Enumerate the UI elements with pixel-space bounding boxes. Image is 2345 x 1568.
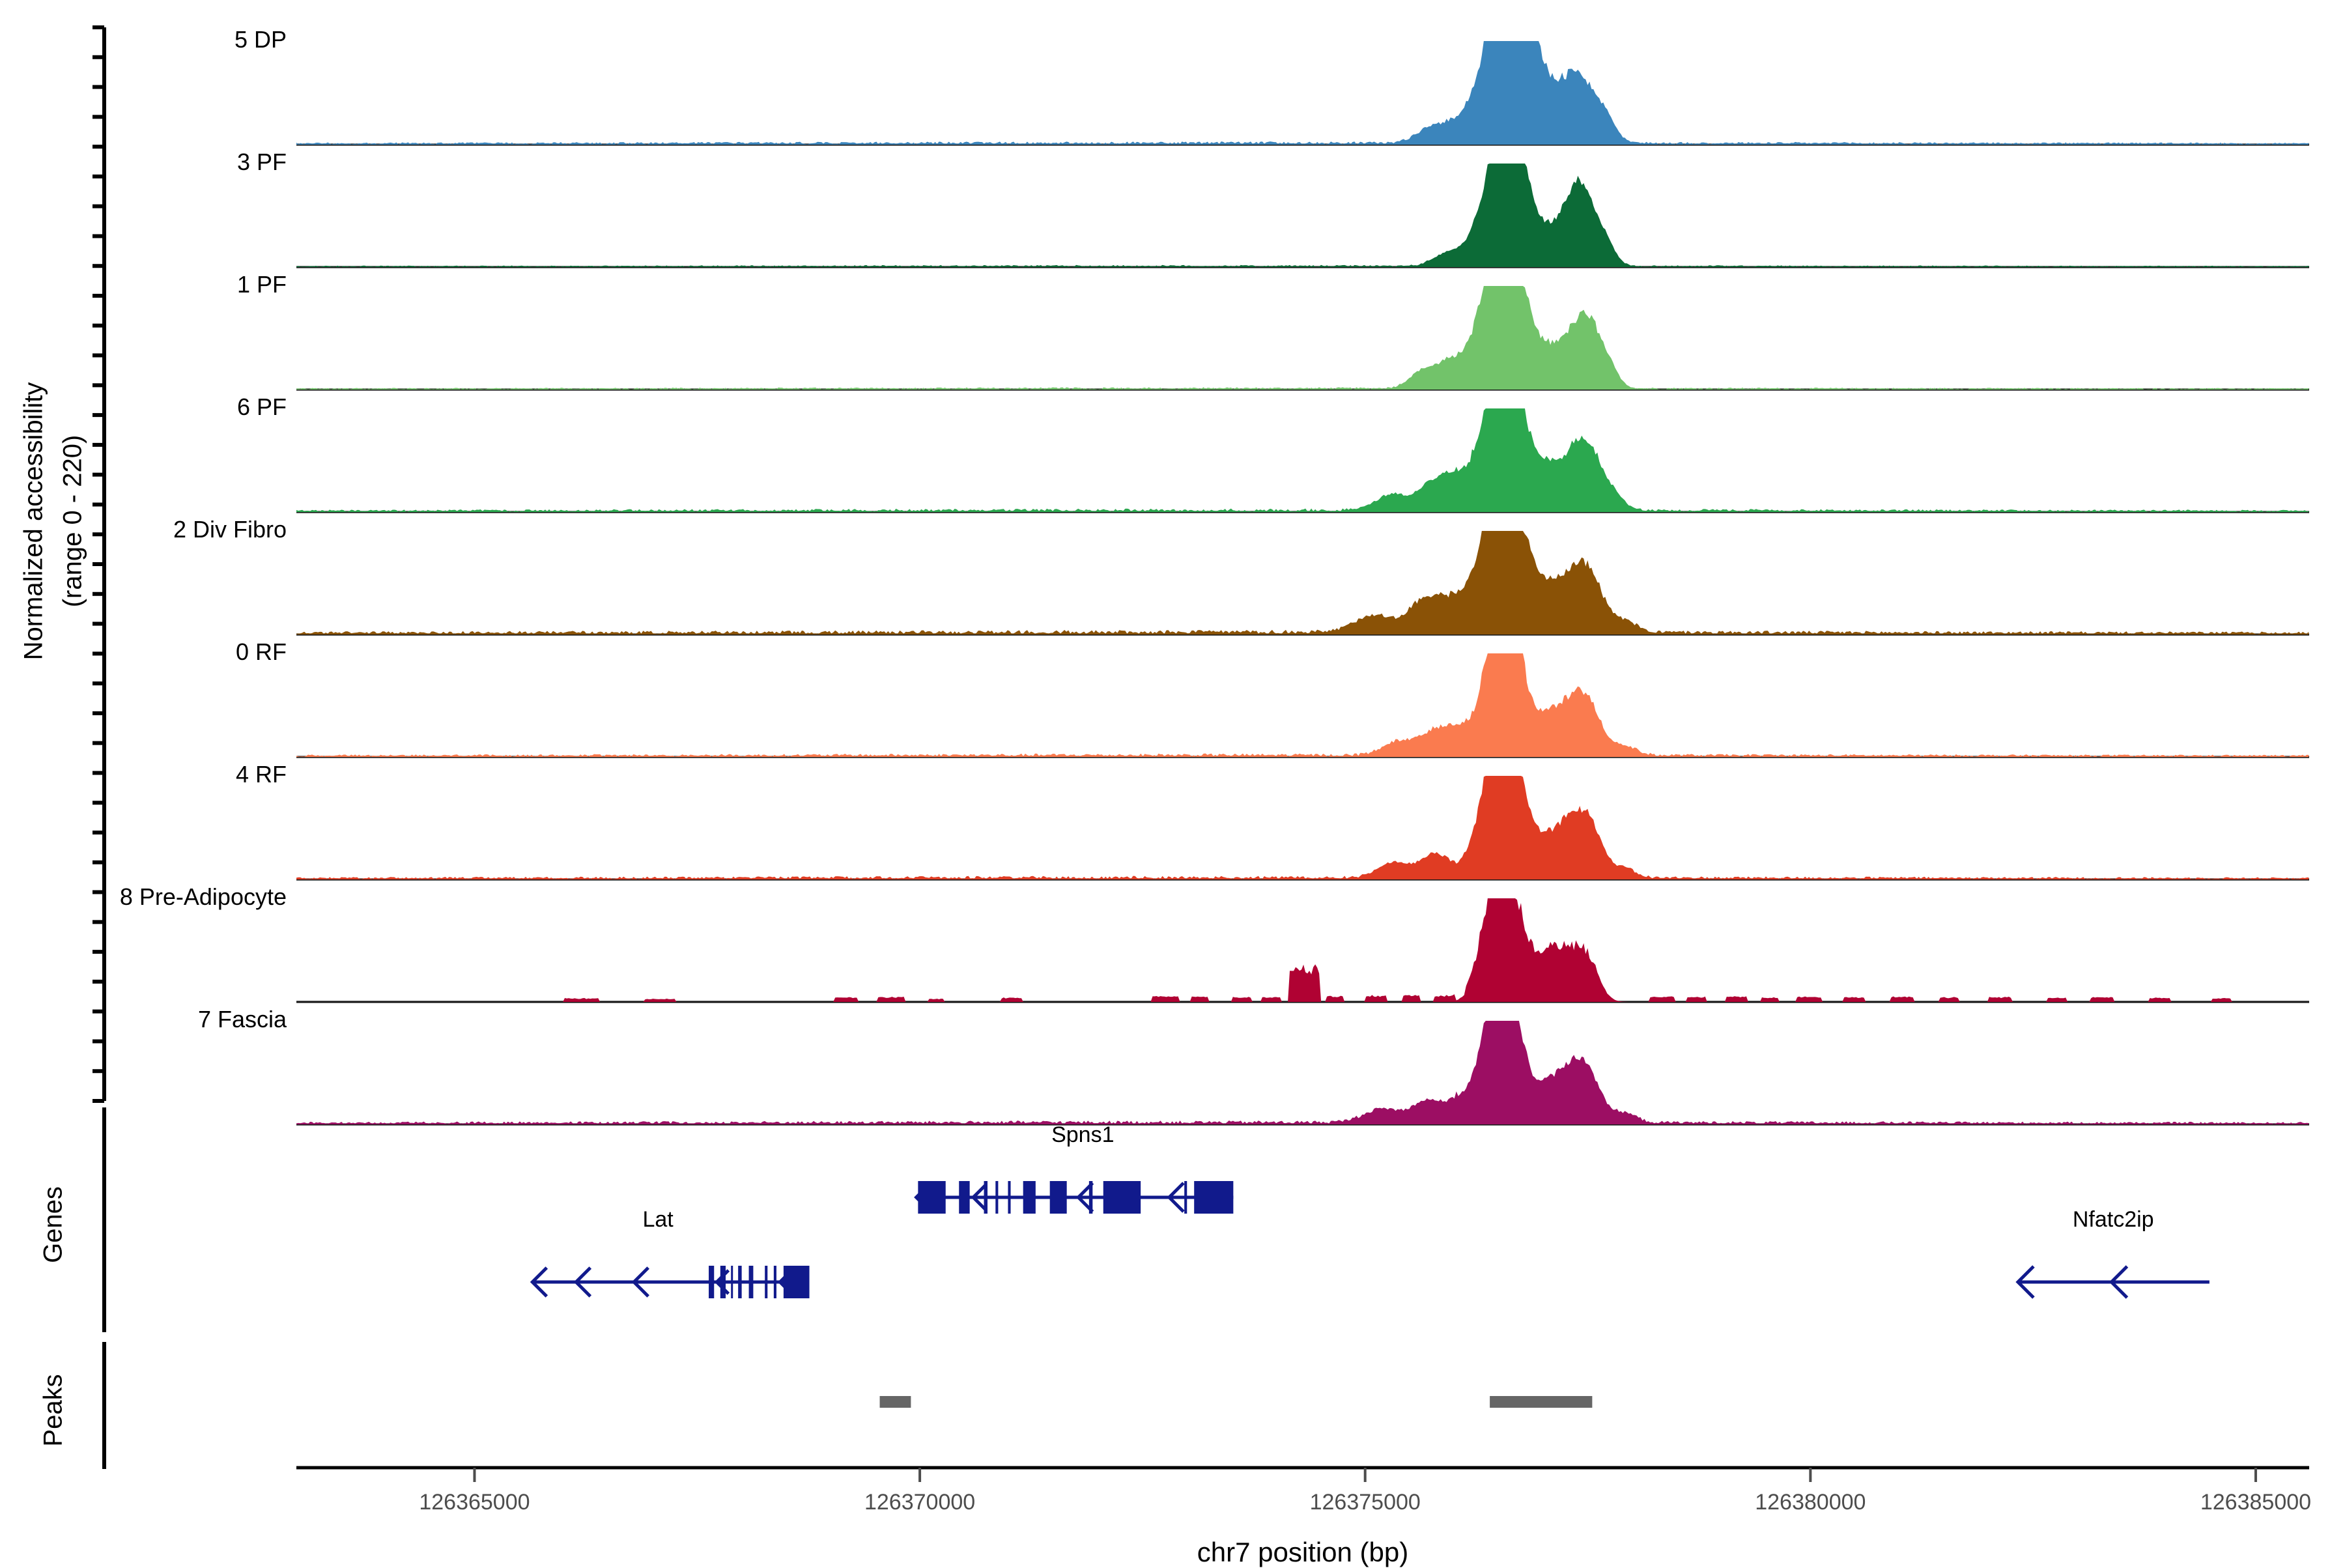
gene-exon bbox=[1103, 1181, 1141, 1214]
track-label-3: 6 PF bbox=[237, 393, 287, 421]
coverage-area bbox=[296, 41, 2309, 145]
coverage-area bbox=[296, 1021, 2309, 1124]
coverage-track bbox=[296, 286, 2309, 390]
coverage-track bbox=[296, 531, 2309, 634]
coverage-area bbox=[296, 164, 2309, 267]
track-label-1: 3 PF bbox=[237, 149, 287, 176]
gene-exon bbox=[784, 1266, 810, 1298]
coverage-area bbox=[296, 408, 2309, 512]
gene-exon bbox=[749, 1266, 754, 1298]
track-label-0: 5 DP bbox=[234, 26, 287, 53]
x-tick-label-4: 126385000 bbox=[2200, 1490, 2311, 1515]
coverage-area bbox=[296, 531, 2309, 634]
coverage-track bbox=[296, 41, 2309, 145]
track-label-2: 1 PF bbox=[237, 271, 287, 298]
peaks-track bbox=[880, 1396, 1593, 1408]
coverage-track bbox=[296, 653, 2309, 757]
figure-root: Normalized accessibility (range 0 - 220)… bbox=[0, 0, 2345, 1563]
coverage-area bbox=[296, 776, 2309, 879]
coverage-track bbox=[296, 776, 2309, 879]
x-tick-label-1: 126370000 bbox=[864, 1490, 975, 1515]
track-label-8: 7 Fascia bbox=[198, 1006, 287, 1033]
coverage-track bbox=[296, 898, 2309, 1002]
coverage-area bbox=[296, 898, 2309, 1002]
coverage-area bbox=[296, 653, 2309, 757]
x-tick-label-3: 126380000 bbox=[1755, 1490, 1866, 1515]
gene-exon bbox=[959, 1181, 969, 1214]
x-tick-label-2: 126375000 bbox=[1310, 1490, 1421, 1515]
gene-exon bbox=[1023, 1181, 1036, 1214]
coverage-area bbox=[296, 286, 2309, 390]
peak-region bbox=[1490, 1396, 1592, 1408]
gene-exon bbox=[1194, 1181, 1233, 1214]
genome-browser-canvas bbox=[0, 0, 2345, 1563]
gene-exon bbox=[774, 1266, 776, 1298]
track-label-5: 0 RF bbox=[236, 638, 287, 666]
peak-region bbox=[880, 1396, 911, 1408]
gene-exon bbox=[995, 1181, 998, 1214]
gene-exon bbox=[1050, 1181, 1067, 1214]
gene-label-spns1: Spns1 bbox=[1051, 1122, 1114, 1148]
coverage-track bbox=[296, 1021, 2309, 1124]
gene-exon bbox=[1184, 1181, 1187, 1214]
gene-label-nfatc2ip: Nfatc2ip bbox=[2073, 1207, 2154, 1233]
gene-exon bbox=[720, 1266, 726, 1298]
gene-label-lat: Lat bbox=[642, 1207, 673, 1233]
track-label-4: 2 Div Fibro bbox=[173, 516, 287, 543]
gene-exon bbox=[918, 1181, 945, 1214]
x-tick-label-0: 126365000 bbox=[419, 1490, 530, 1515]
gene-exon bbox=[738, 1266, 741, 1298]
genes-track bbox=[532, 1181, 2210, 1298]
gene-exon bbox=[765, 1266, 767, 1298]
coverage-track bbox=[296, 408, 2309, 512]
track-label-7: 8 Pre-Adipocyte bbox=[120, 883, 287, 911]
coverage-track bbox=[296, 164, 2309, 267]
gene-exon bbox=[709, 1266, 714, 1298]
track-label-6: 4 RF bbox=[236, 761, 287, 788]
gene-exon bbox=[1008, 1181, 1010, 1214]
gene-exon bbox=[731, 1266, 733, 1298]
